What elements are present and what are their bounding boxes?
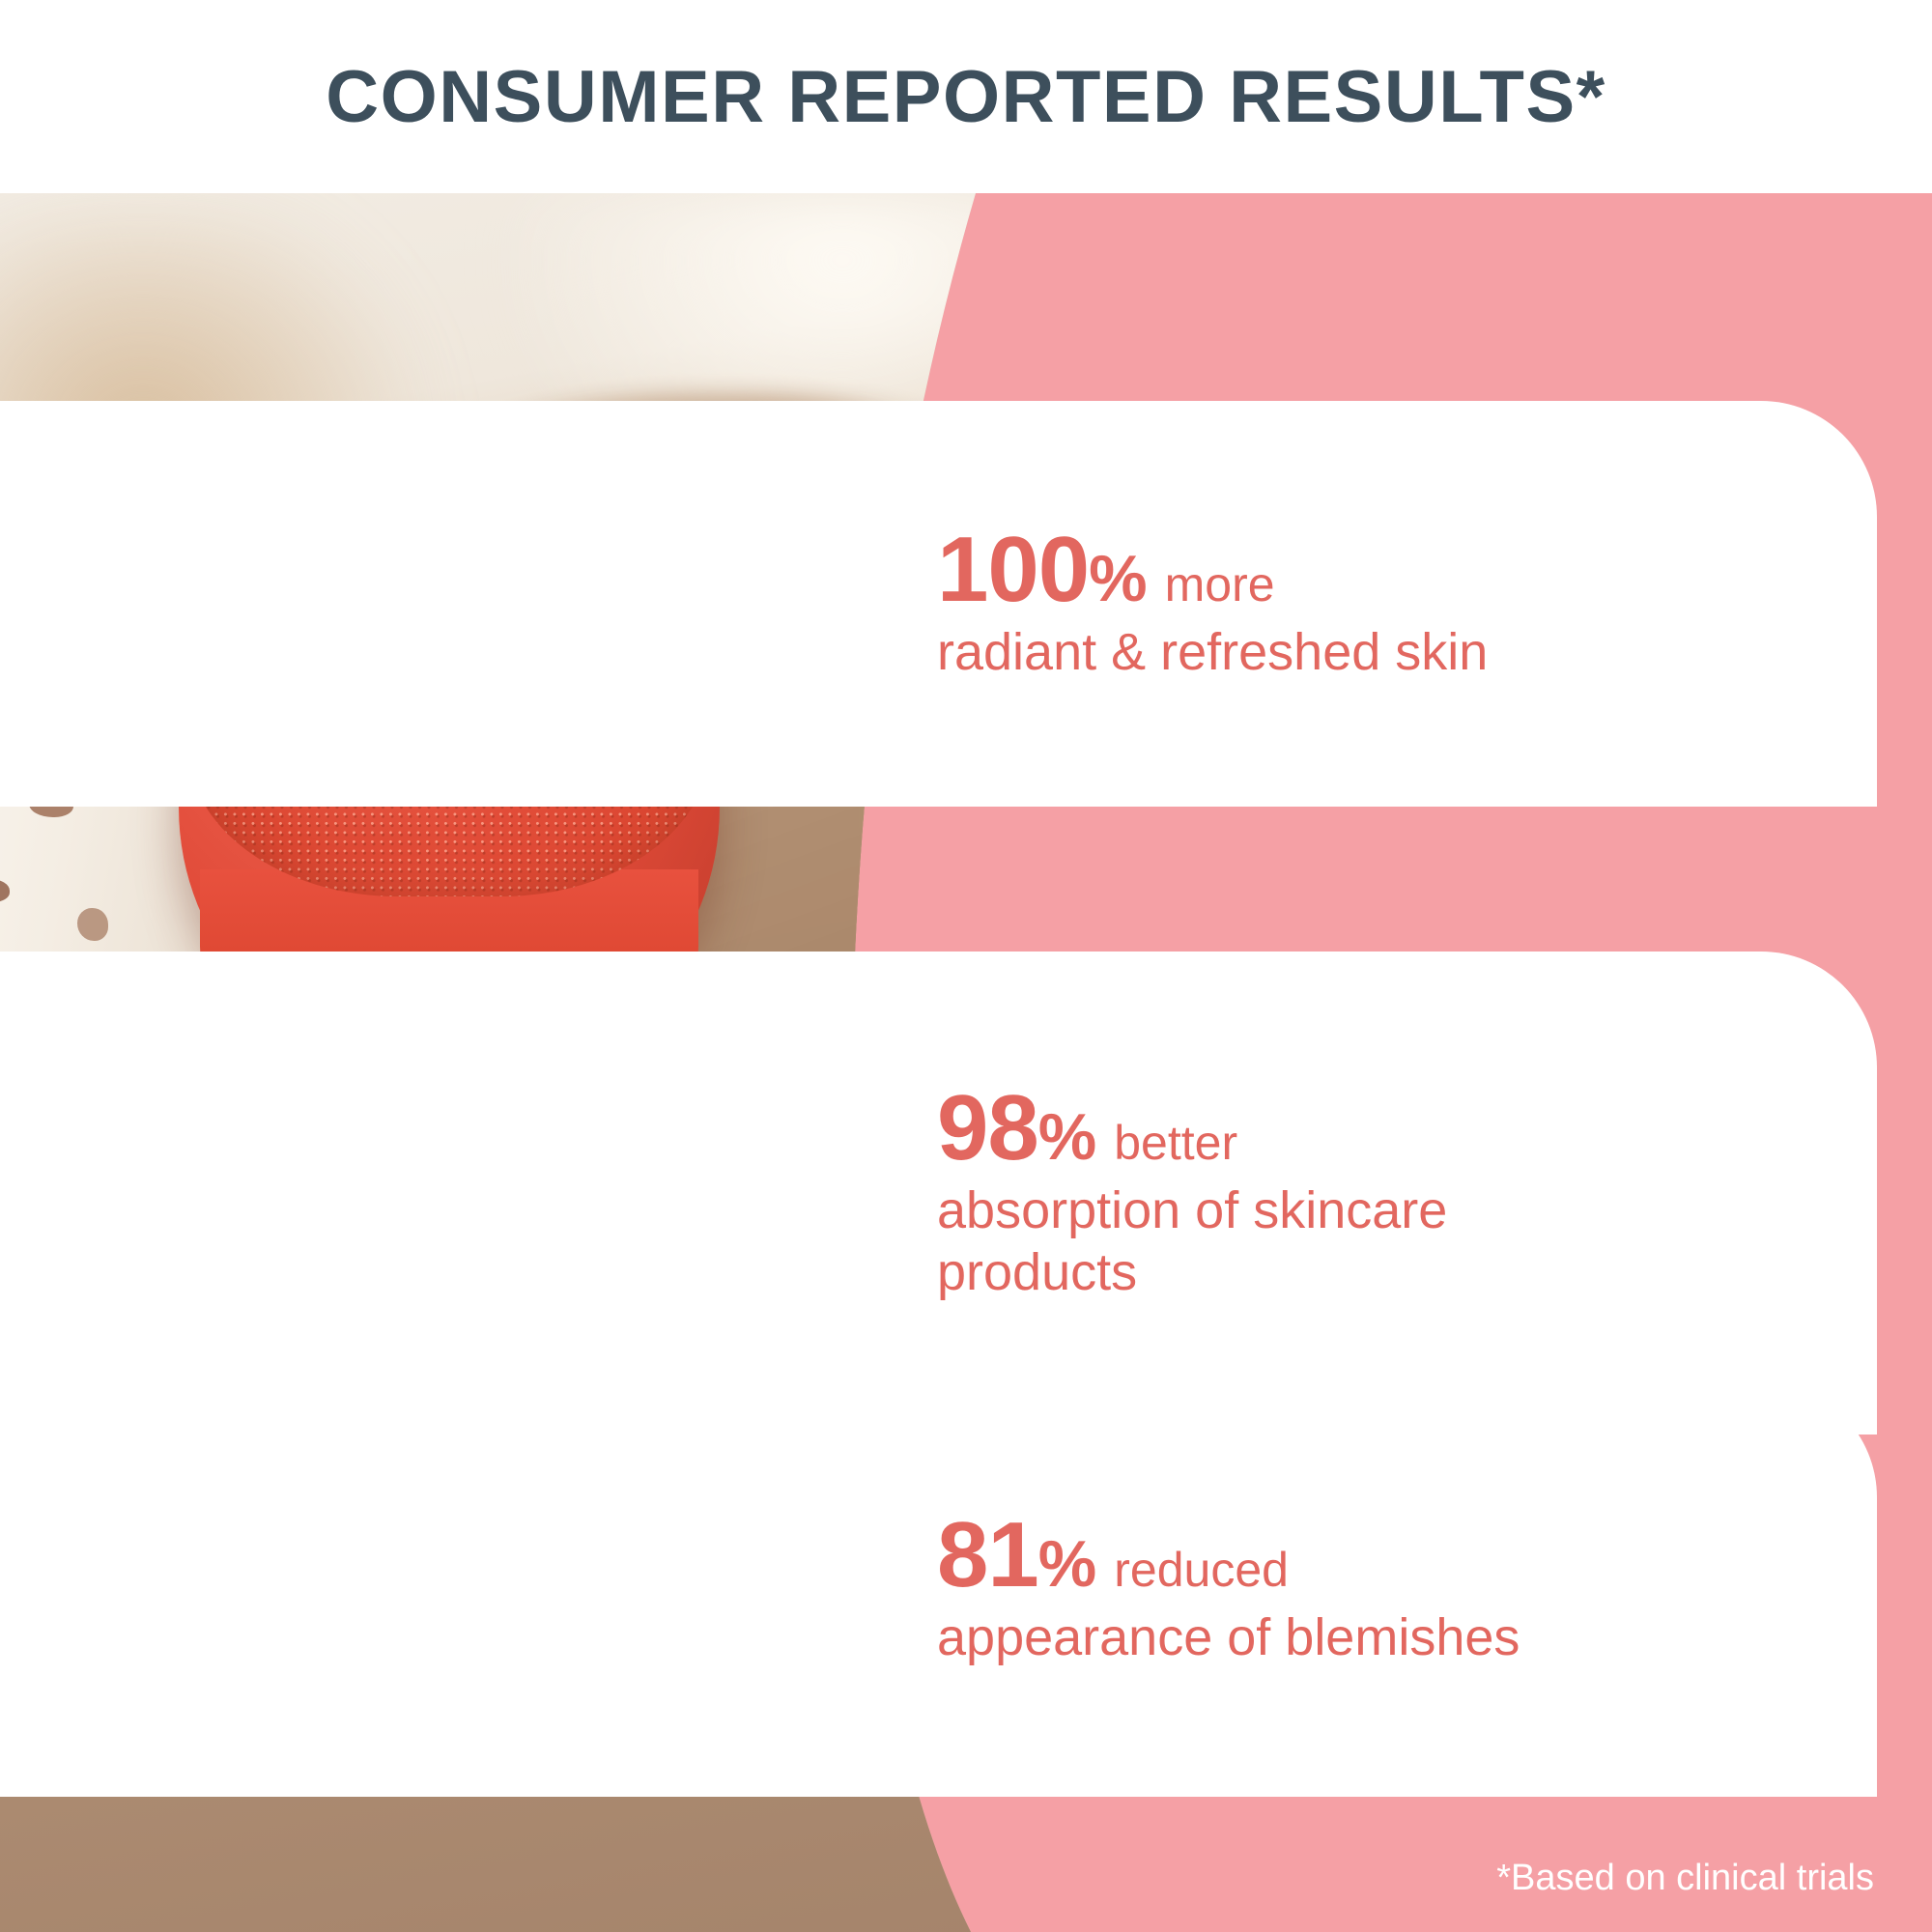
stat-1-description: radiant & refreshed skin	[937, 622, 1819, 684]
stat-2-lead: better	[1096, 1116, 1237, 1170]
terrazzo-fleck	[77, 908, 108, 941]
terrazzo-fleck	[0, 879, 10, 902]
stat-1-percent: %	[1089, 542, 1147, 615]
stat-card-3: 81%reduced appearance of blemishes	[0, 1381, 1877, 1797]
stat-card-3-content: 81%reduced appearance of blemishes	[0, 1509, 1877, 1669]
stat-3-value: 81	[937, 1503, 1038, 1606]
stat-1-headline: 100%more	[937, 524, 1819, 616]
infographic-root: CONSUMER REPORTED RESULTS*	[0, 0, 1932, 1932]
stat-card-2-content: 98%better absorption of skincare product…	[0, 1082, 1877, 1303]
stat-2-value: 98	[937, 1076, 1038, 1179]
stat-3-headline: 81%reduced	[937, 1509, 1819, 1602]
stat-3-description: appearance of blemishes	[937, 1607, 1819, 1669]
page-title: CONSUMER REPORTED RESULTS*	[326, 55, 1605, 139]
stat-3-lead: reduced	[1096, 1543, 1289, 1597]
stat-card-1-content: 100%more radiant & refreshed skin	[0, 524, 1877, 684]
stat-1-value: 100	[937, 518, 1089, 621]
stat-2-headline: 98%better	[937, 1082, 1819, 1175]
stage: FOREO 100%more radiant & refreshed skin …	[0, 193, 1932, 1932]
stat-2-percent: %	[1038, 1100, 1096, 1174]
header-band: CONSUMER REPORTED RESULTS*	[0, 0, 1932, 193]
stat-1-lead: more	[1148, 557, 1275, 611]
stat-3-percent: %	[1038, 1527, 1096, 1601]
footnote-disclaimer: *Based on clinical trials	[1496, 1858, 1874, 1899]
stat-card-2: 98%better absorption of skincare product…	[0, 952, 1877, 1435]
stat-2-description: absorption of skincare products	[937, 1180, 1555, 1303]
stat-card-1: 100%more radiant & refreshed skin	[0, 401, 1877, 807]
